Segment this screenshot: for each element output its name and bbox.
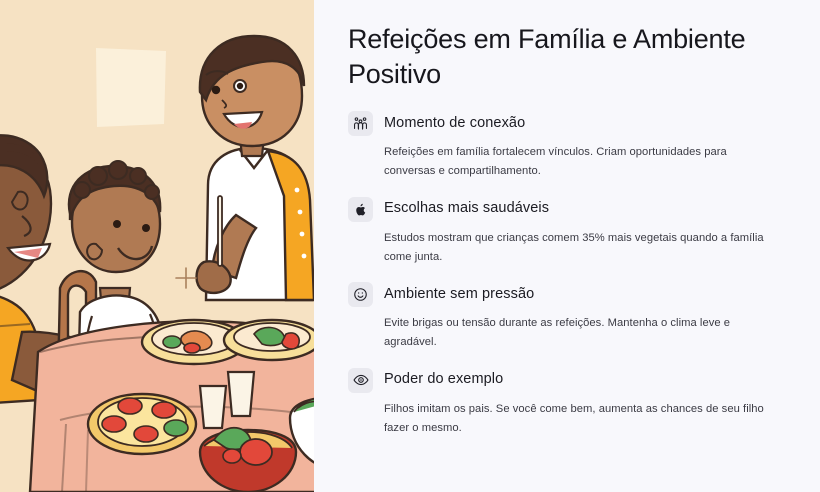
list-item: Poder do exemplo Filhos imitam os pais. … <box>348 368 786 439</box>
slide-root: Refeições em Família e Ambiente Positivo <box>0 0 820 492</box>
list-item-header: Escolhas mais saudáveis <box>348 197 786 222</box>
list-item-header: Ambiente sem pressão <box>348 282 786 307</box>
pizza-topping <box>102 416 126 432</box>
food-2-tomato <box>282 333 299 349</box>
wall-panel <box>96 48 166 127</box>
list-item-title: Momento de conexão <box>384 115 525 132</box>
benefits-list: Momento de conexão Refeições em família … <box>348 111 786 438</box>
content-panel: Refeições em Família e Ambiente Positivo <box>314 0 820 492</box>
eye-icon <box>348 368 373 393</box>
salad-tomato <box>240 439 272 465</box>
pizza-topping <box>118 398 142 414</box>
list-item-description: Filhos imitam os pais. Se você come bem,… <box>384 400 774 439</box>
mother-eye-right <box>237 83 243 89</box>
fork <box>218 196 222 266</box>
family-dinner-illustration <box>0 0 314 492</box>
list-item-description: Refeições em família fortalecem vínculos… <box>384 143 774 182</box>
mother-eye-left <box>212 86 220 94</box>
list-item: Ambiente sem pressão Evite brigas ou ten… <box>348 282 786 353</box>
list-item-title: Escolhas mais saudáveis <box>384 200 549 217</box>
pizza-topping <box>152 402 176 418</box>
child-eye-right <box>142 224 150 232</box>
list-item-header: Poder do exemplo <box>348 368 786 393</box>
list-item-header: Momento de conexão <box>348 111 786 136</box>
pizza-topping-green <box>164 420 188 436</box>
apple-icon <box>348 197 373 222</box>
list-item-title: Poder do exemplo <box>384 371 503 388</box>
pizza-topping <box>134 426 158 442</box>
list-item-title: Ambiente sem pressão <box>384 286 534 303</box>
glass-2 <box>228 372 254 416</box>
smiley-face-icon <box>348 282 373 307</box>
list-item: Escolhas mais saudáveis Estudos mostram … <box>348 197 786 268</box>
list-item: Momento de conexão Refeições em família … <box>348 111 786 182</box>
page-title: Refeições em Família e Ambiente Positivo <box>348 22 768 91</box>
glass-1 <box>200 386 226 428</box>
illustration-canvas <box>0 0 314 492</box>
child-eye-left <box>113 220 121 228</box>
list-item-description: Estudos mostram que crianças comem 35% m… <box>384 229 774 268</box>
list-item-description: Evite brigas ou tensão durante as refeiç… <box>384 314 774 353</box>
family-group-icon <box>348 111 373 136</box>
